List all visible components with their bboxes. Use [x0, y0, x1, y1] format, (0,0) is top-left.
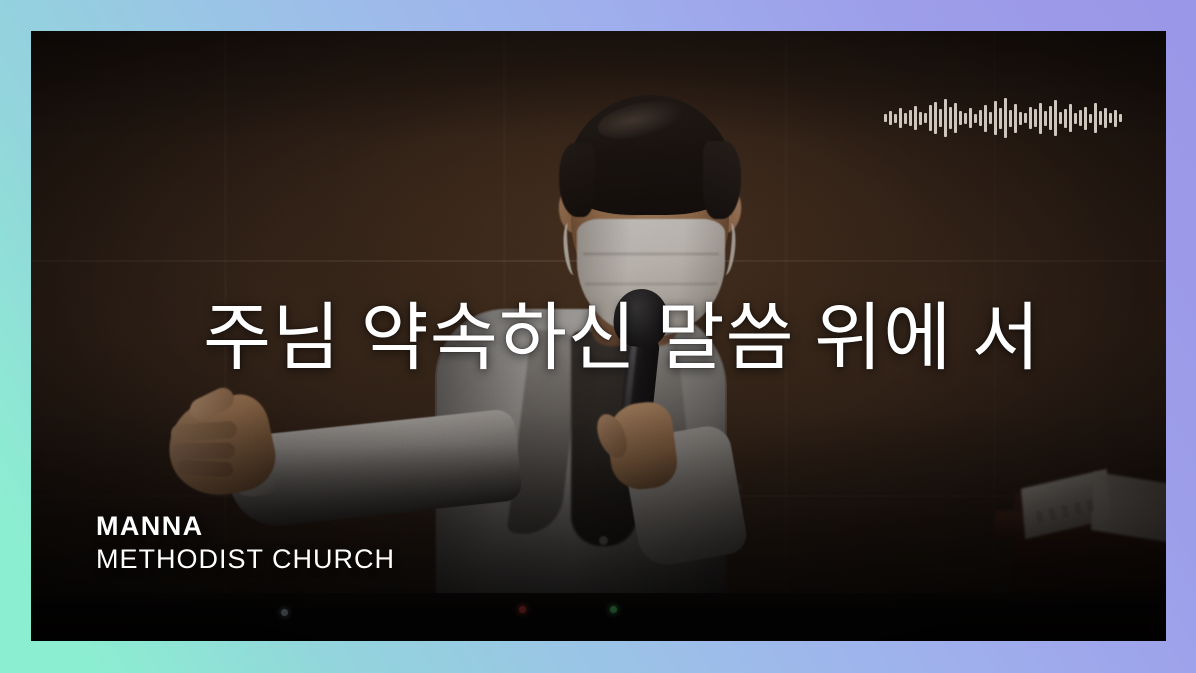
waveform-bar-26 — [1014, 104, 1017, 133]
waveform-bar-34 — [1054, 100, 1057, 136]
waveform-bar-40 — [1084, 107, 1087, 130]
waveform-bar-9 — [929, 105, 932, 131]
waveform-bar-18 — [974, 114, 977, 123]
waveform-bar-45 — [1109, 113, 1112, 123]
waveform-bar-30 — [1034, 109, 1037, 127]
waveform-bar-14 — [954, 103, 957, 133]
church-logo: MANNA METHODIST CHURCH — [96, 511, 395, 577]
waveform-bar-10 — [934, 102, 937, 134]
waveform-bar-37 — [1069, 104, 1072, 132]
waveform-bar-46 — [1114, 110, 1117, 127]
waveform-bar-12 — [944, 99, 947, 137]
waveform-bar-43 — [1099, 111, 1102, 125]
indicator-led-red — [519, 606, 526, 613]
hand-left-finger-middle — [173, 442, 235, 459]
waveform-bar-44 — [1104, 108, 1107, 128]
waveform-bar-33 — [1049, 106, 1052, 130]
waveform-bar-7 — [919, 112, 922, 125]
waveform-bar-1 — [889, 111, 892, 125]
audio-waveform-icon — [884, 93, 1122, 143]
waveform-bar-28 — [1024, 113, 1027, 123]
waveform-bar-8 — [924, 113, 927, 123]
waveform-bar-38 — [1074, 113, 1077, 124]
waveform-bar-31 — [1039, 103, 1042, 134]
waveform-bar-20 — [984, 105, 987, 132]
waveform-bar-2 — [894, 114, 897, 123]
waveform-bar-23 — [999, 108, 1002, 129]
waveform-bar-17 — [969, 108, 972, 128]
waveform-bar-35 — [1059, 112, 1062, 124]
hair-sideburn-right — [703, 141, 741, 219]
waveform-bar-36 — [1064, 109, 1067, 128]
waveform-bar-25 — [1009, 110, 1012, 127]
stage-floor-band — [31, 593, 1166, 641]
waveform-bar-0 — [884, 114, 887, 122]
hair-sideburn-left — [559, 143, 595, 217]
indicator-led-green — [610, 606, 617, 613]
waveform-bar-15 — [959, 111, 962, 125]
sermon-title: 주님 약속하신 말씀 위에 서 — [203, 299, 1063, 380]
waveform-bar-47 — [1119, 114, 1122, 122]
waveform-bar-42 — [1094, 103, 1097, 133]
waveform-bar-6 — [914, 106, 917, 130]
waveform-bar-27 — [1019, 112, 1022, 125]
hand-left-finger-ring — [177, 460, 234, 478]
page-root: 주님 약속하신 말씀 위에 서 MANNA METHODIST CHURCH — [0, 0, 1196, 673]
waveform-bar-41 — [1089, 114, 1092, 123]
church-logo-subtitle: METHODIST CHURCH — [96, 543, 395, 577]
waveform-bar-11 — [939, 109, 942, 127]
waveform-bar-39 — [1079, 110, 1082, 126]
church-logo-name: MANNA — [96, 511, 395, 543]
waveform-bar-22 — [994, 101, 997, 135]
waveform-bar-5 — [909, 110, 912, 126]
video-frame[interactable]: 주님 약속하신 말씀 위에 서 MANNA METHODIST CHURCH — [31, 31, 1166, 641]
waveform-bar-4 — [904, 113, 907, 124]
waveform-bar-32 — [1044, 111, 1047, 126]
indicator-led-white — [281, 609, 288, 616]
waveform-bar-13 — [949, 107, 952, 129]
waveform-bar-21 — [989, 112, 992, 124]
waveform-bar-3 — [899, 108, 902, 128]
waveform-bar-19 — [979, 110, 982, 126]
waveform-bar-24 — [1004, 98, 1007, 138]
waveform-bar-16 — [964, 113, 967, 124]
jacket-button-lower — [599, 536, 608, 545]
waveform-bar-29 — [1029, 107, 1032, 129]
